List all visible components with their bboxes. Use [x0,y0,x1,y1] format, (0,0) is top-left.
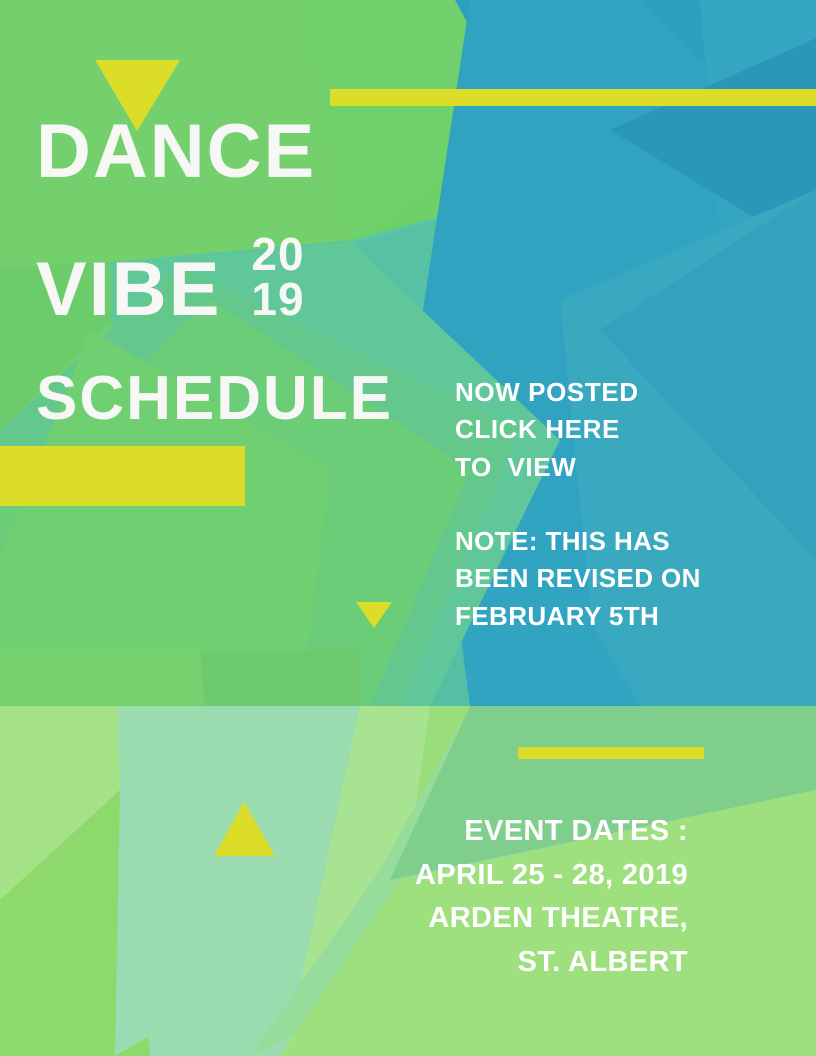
event-details-block: EVENT DATES : APRIL 25 - 28, 2019 ARDEN … [330,810,688,984]
poster-title-block: DANCE VIBE 20 19 SCHEDULE [36,114,456,430]
title-vibe: VIBE [36,252,221,328]
title-dance: DANCE [36,114,456,190]
note-line-2: BEEN REVISED ON [455,560,785,597]
event-venue-line-2: ST. ALBERT [330,941,688,985]
poster-canvas: DANCE VIBE 20 19 SCHEDULE NOW POSTED CLI… [0,0,816,1056]
event-venue-line-1: ARDEN THEATRE, [330,897,688,941]
yellow-bar-bottom [518,747,704,759]
yellow-block-left [0,446,245,506]
note-block: NOTE: THIS HAS BEEN REVISED ON FEBRUARY … [455,523,785,635]
cta-block[interactable]: NOW POSTED CLICK HERE TO VIEW [455,374,785,486]
year-stack: 20 19 [251,232,304,322]
note-line-3: FEBRUARY 5TH [455,598,785,635]
year-bottom: 19 [251,277,304,322]
title-schedule: SCHEDULE [36,368,456,430]
bg-facet-seam-left [0,650,205,706]
event-dates-label: EVENT DATES : [330,810,688,854]
title-vibe-year-row: VIBE 20 19 [36,232,456,328]
cta-line-2[interactable]: CLICK HERE [455,411,785,448]
note-line-1: NOTE: THIS HAS [455,523,785,560]
year-top: 20 [251,232,304,277]
bg-facet-seam-mid [200,650,360,706]
yellow-bar-top [330,89,816,106]
cta-line-3[interactable]: TO VIEW [455,449,785,486]
event-dates-value: APRIL 25 - 28, 2019 [330,854,688,898]
cta-line-1: NOW POSTED [455,374,785,411]
